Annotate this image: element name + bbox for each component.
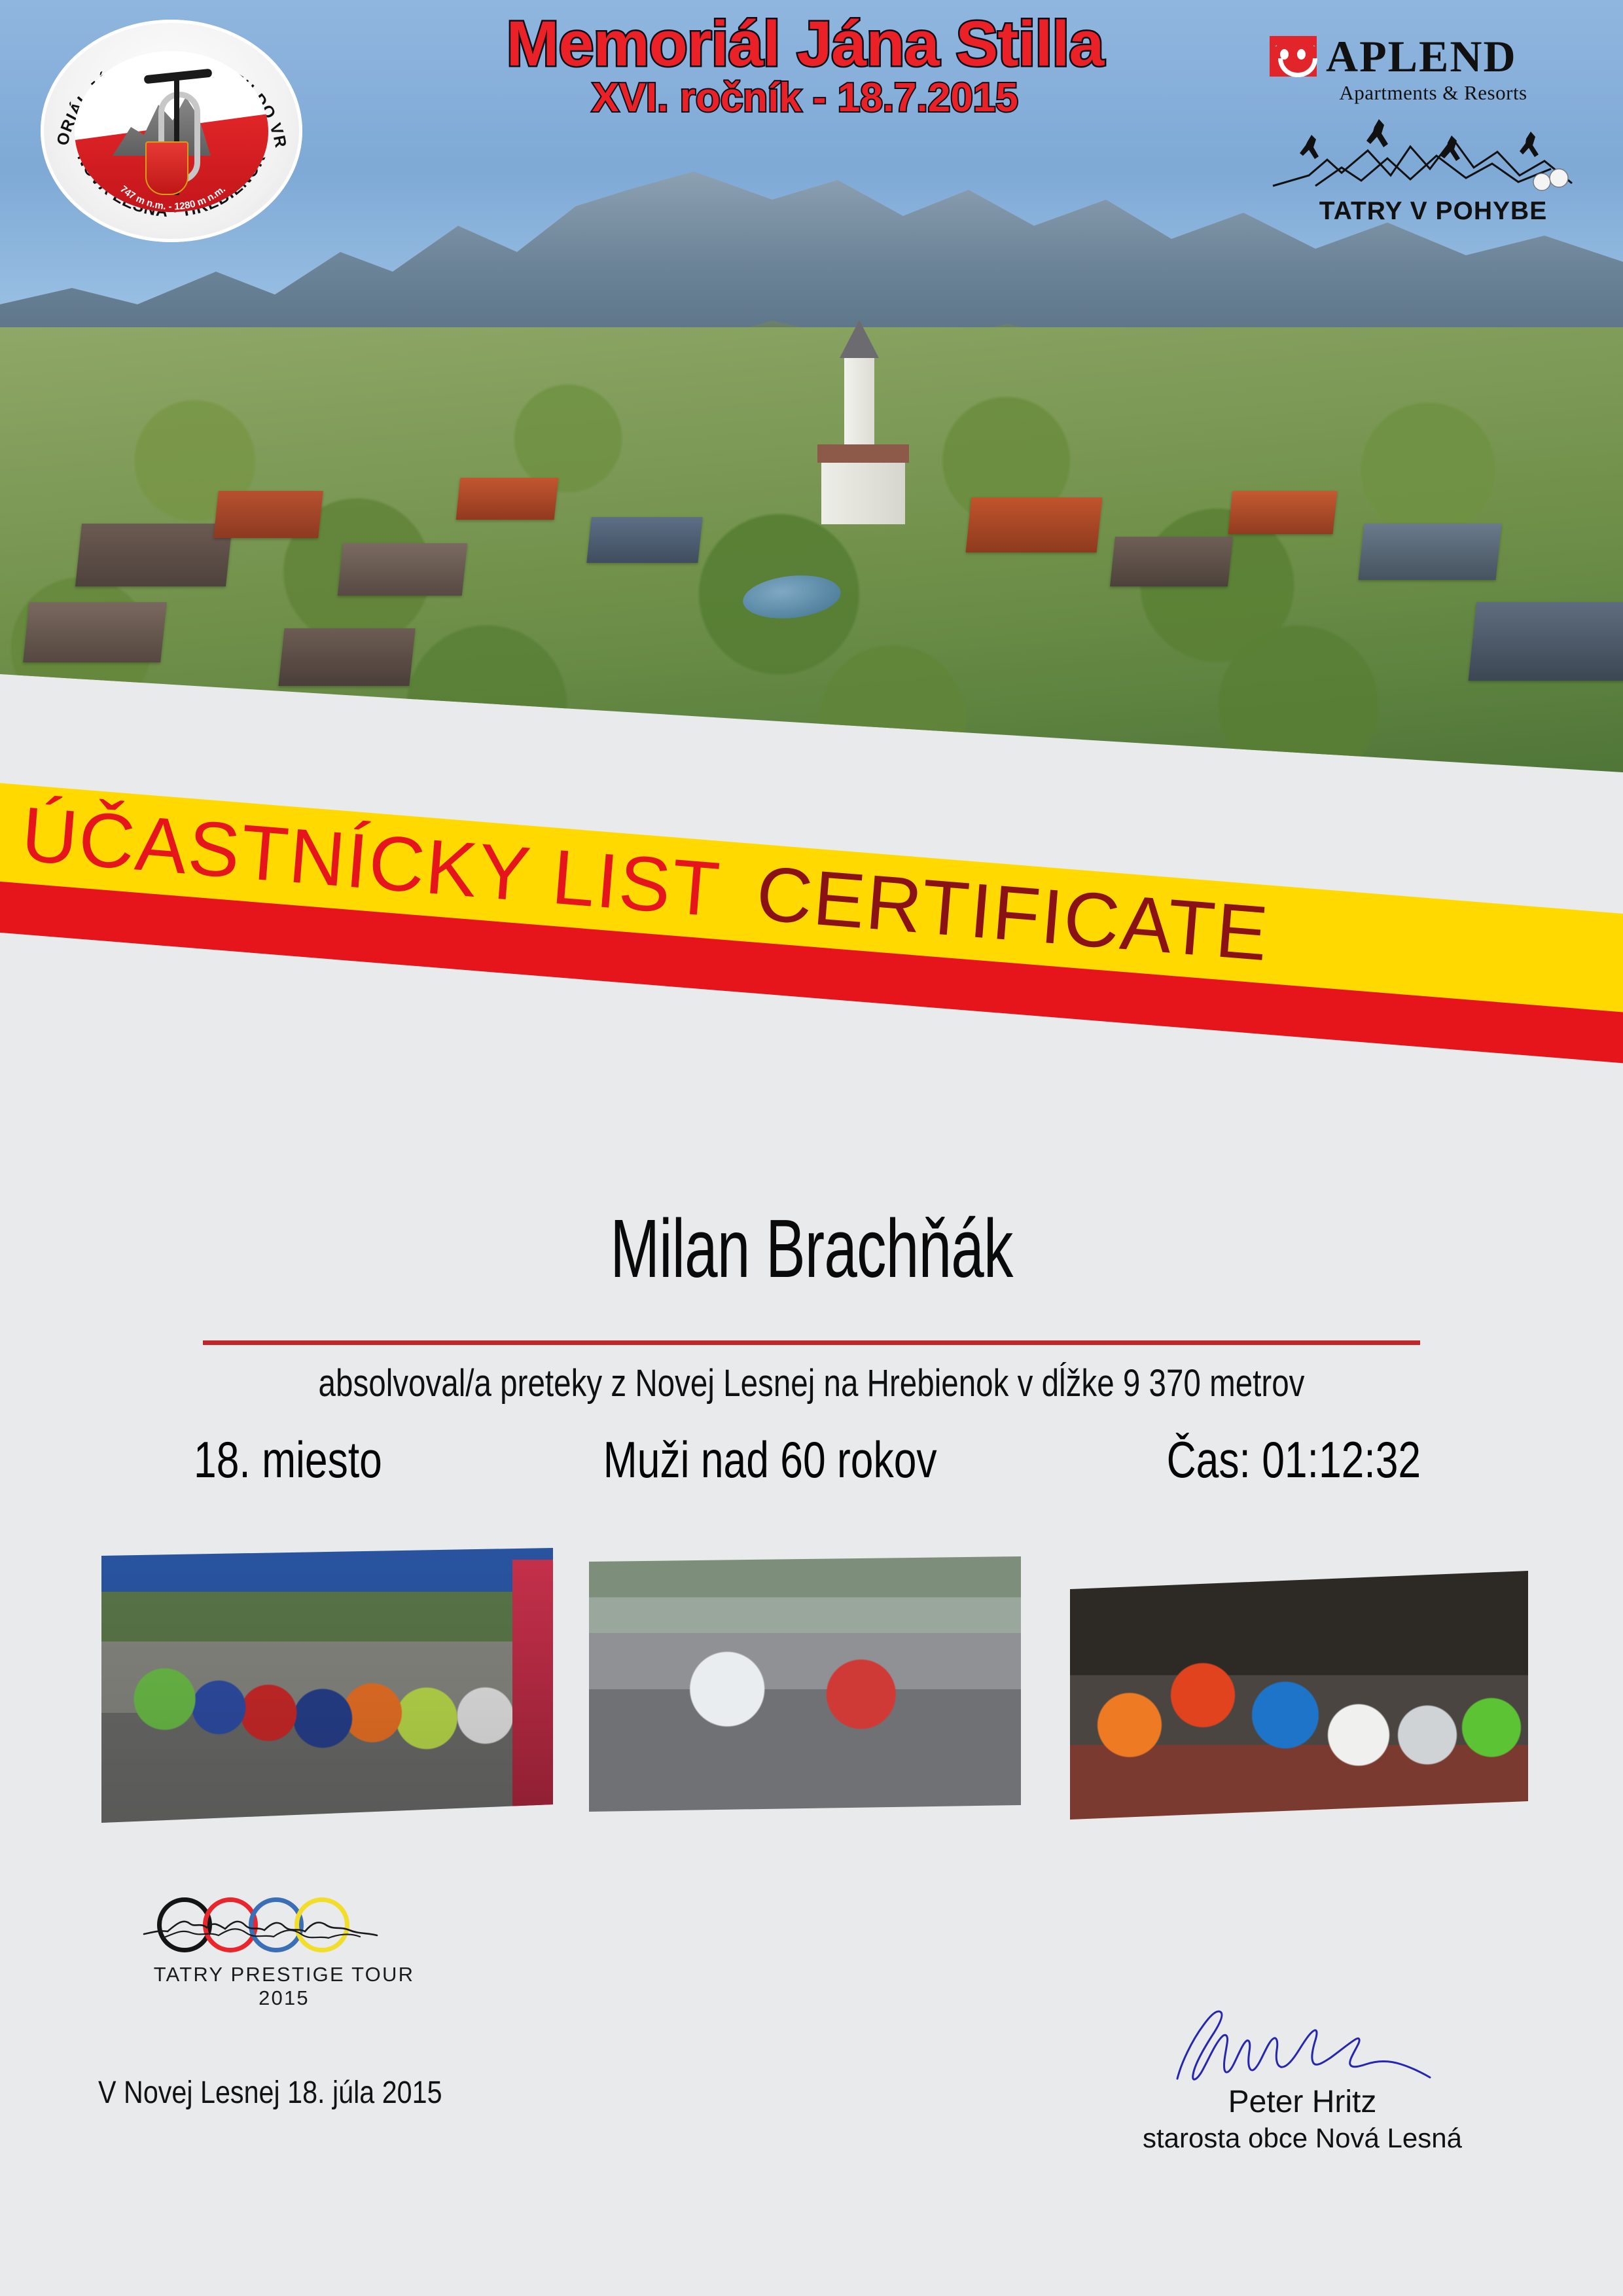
event-title: Memoriál Jána Stilla <box>366 10 1243 77</box>
church-nave <box>821 461 905 524</box>
tatry-v-pohybe-mountain-icon <box>1270 113 1577 198</box>
place-and-date: V Novej Lesnej 18. júla 2015 <box>98 2075 442 2111</box>
svg-text:747 m n.m. - 1280 m n.m.: 747 m n.m. - 1280 m n.m. <box>118 183 228 212</box>
event-title-block: Memoriál Jána Stilla XVI. ročník - 18.7.… <box>366 10 1243 121</box>
roof <box>1469 602 1623 681</box>
photo-race-start <box>101 1548 553 1823</box>
aplend-logo: APLEND <box>1270 34 1597 79</box>
certificate-page: MEMORIÁL JÁNA STILLA · BEH DO VRCHU NOVÁ… <box>0 0 1623 2296</box>
tatry-prestige-tour-logo: TATRY PRESTIGE TOUR 2015 <box>157 1888 432 2010</box>
smile-icon <box>1278 58 1317 77</box>
race-description: absolvoval/a preteky z Novej Lesnej na H… <box>146 1361 1477 1405</box>
mountain-ridge-icon <box>143 1914 378 1943</box>
tatry-v-pohybe-label: TATRY V POHYBE <box>1270 197 1597 226</box>
result-time: Čas: 01:12:32 <box>1167 1430 1421 1490</box>
signer-name: Peter Hritz <box>1073 2084 1531 2120</box>
village-rooftops <box>0 327 1623 772</box>
result-row: 18. miesto Muži nad 60 rokov Čas: 01:12:… <box>170 1430 1453 1490</box>
roof <box>213 491 323 538</box>
handwritten-signature-icon <box>1162 2003 1443 2088</box>
photo-runner-cyclist <box>589 1556 1021 1812</box>
aplend-house-smile-icon <box>1270 36 1317 77</box>
signature-block: Peter Hritz starosta obce Nová Lesná <box>1073 2003 1531 2154</box>
roof <box>1358 524 1501 580</box>
roof <box>23 602 167 662</box>
photo-strip <box>0 1532 1623 1872</box>
signer-role: starosta obce Nová Lesná <box>1073 2123 1531 2154</box>
sponsor-logo-block: APLEND Apartments & Resorts TATRY V <box>1270 34 1597 257</box>
roof <box>586 517 702 563</box>
result-category: Muži nad 60 rokov <box>603 1430 937 1490</box>
badge-elevation-text: 747 m n.m. - 1280 m n.m. <box>75 51 268 212</box>
roof <box>278 628 415 686</box>
name-divider <box>203 1340 1420 1345</box>
olympic-style-rings <box>157 1888 432 1960</box>
badge-inner-emblem: 747 m n.m. - 1280 m n.m. <box>75 51 268 212</box>
hero-photo-tatra-village: MEMORIÁL JÁNA STILLA · BEH DO VRCHU NOVÁ… <box>0 0 1623 772</box>
roof <box>456 478 559 520</box>
roof <box>338 543 467 596</box>
event-badge-logo: MEMORIÁL JÁNA STILLA · BEH DO VRCHU NOVÁ… <box>41 20 302 242</box>
photo-podium <box>1070 1571 1528 1820</box>
recipient-name: Milan Brachňák <box>227 1201 1396 1296</box>
roof <box>1228 491 1338 534</box>
roof <box>966 497 1103 552</box>
result-place: 18. miesto <box>194 1430 382 1490</box>
event-subtitle: XVI. ročník - 18.7.2015 <box>366 75 1243 121</box>
tatry-prestige-tour-label: TATRY PRESTIGE TOUR 2015 <box>136 1963 432 2010</box>
roof <box>75 524 232 586</box>
roof <box>1110 537 1233 586</box>
aplend-tagline: Apartments & Resorts <box>1270 81 1597 105</box>
aplend-wordmark: APLEND <box>1326 34 1517 79</box>
